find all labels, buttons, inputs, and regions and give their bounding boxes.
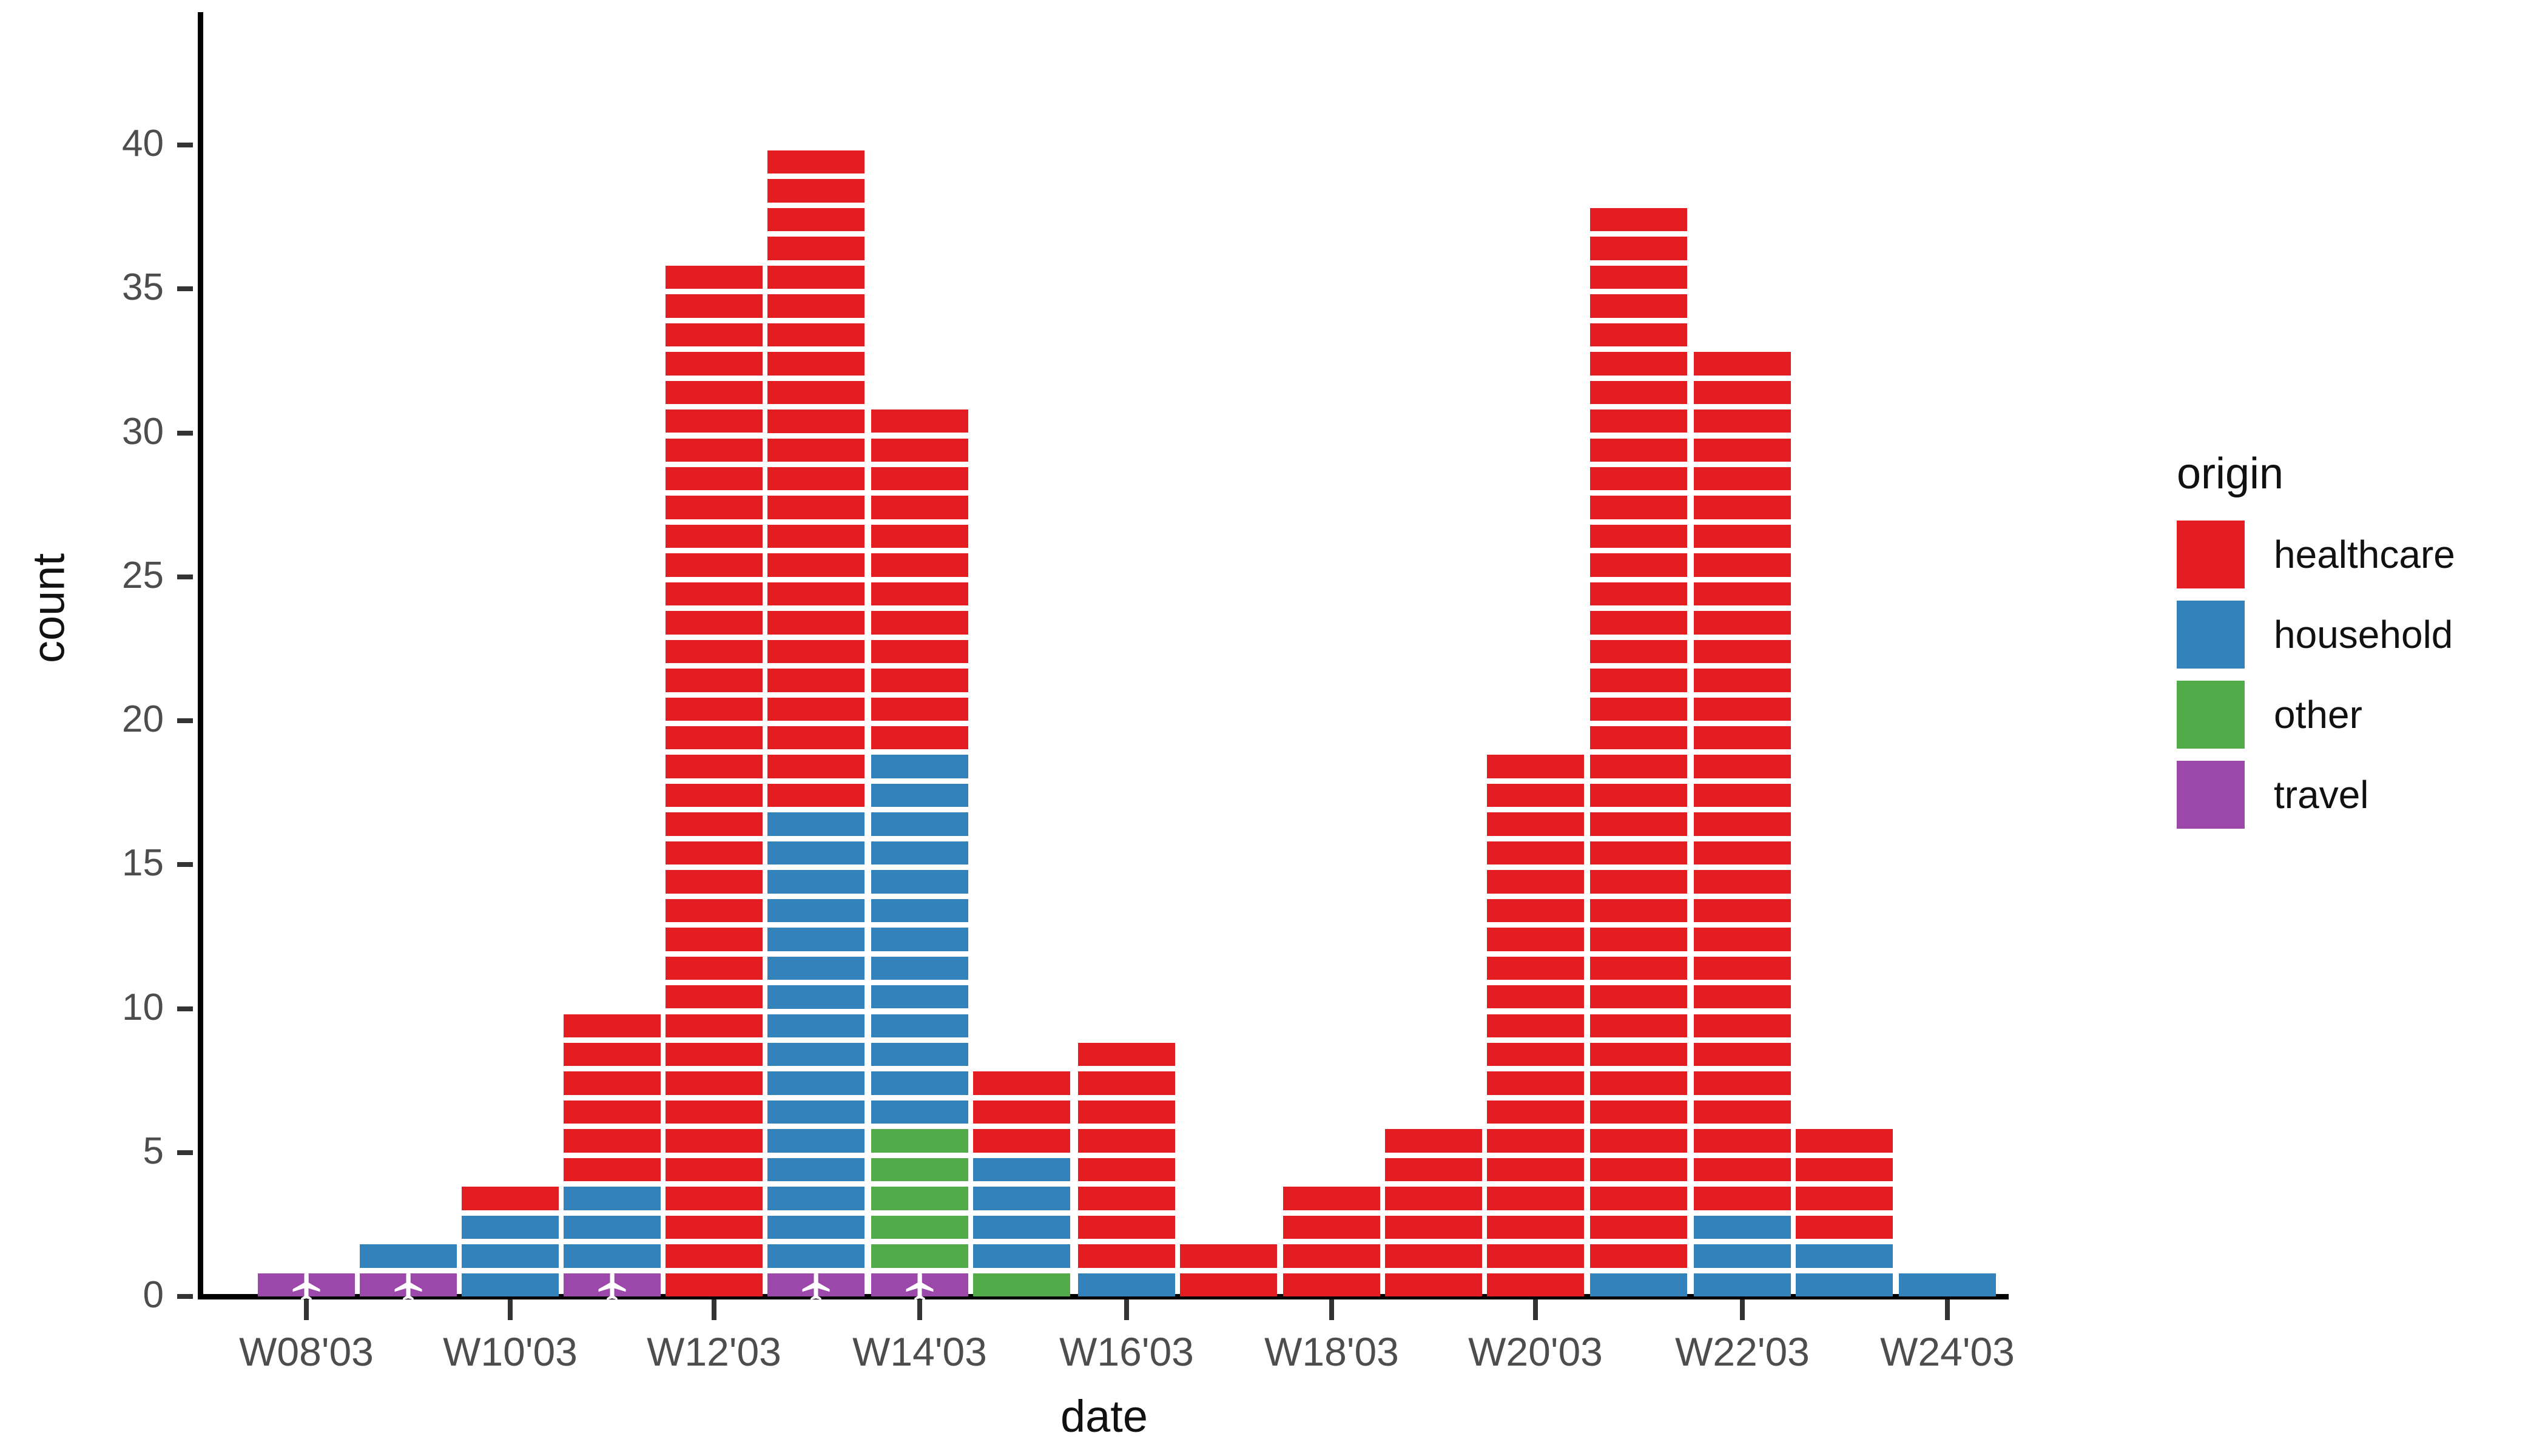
bar-segment-healthcare [666, 1187, 763, 1210]
bar-segment-healthcare [564, 1071, 661, 1094]
bar-segment-healthcare [1590, 294, 1687, 317]
bar-segment-other [871, 1158, 968, 1181]
y-tick-mark [177, 431, 193, 436]
bar-segment-healthcare [767, 467, 864, 490]
bar-stack [1590, 203, 1687, 1296]
bar-segment-household [1694, 1216, 1791, 1239]
bar-segment-household [767, 1043, 864, 1066]
x-tick-label: W10'03 [443, 1329, 578, 1375]
bar-segment-healthcare [462, 1187, 559, 1210]
bar-segment-healthcare [666, 841, 763, 864]
bar-segment-healthcare [1590, 553, 1687, 576]
bar-segment-healthcare [1590, 208, 1687, 231]
bar-segment-healthcare [1487, 957, 1584, 980]
bar-segment-household [871, 928, 968, 951]
bar-segment-healthcare [1694, 985, 1791, 1008]
bar-segment-healthcare [1590, 525, 1687, 548]
bar-segment-household [973, 1216, 1070, 1239]
bar-segment-healthcare [871, 439, 968, 462]
bar-stack [1180, 1239, 1277, 1296]
bar-segment-healthcare [666, 755, 763, 778]
bar-segment-healthcare [1694, 496, 1791, 519]
bar-segment-healthcare [767, 755, 864, 778]
bar-segment-other [871, 1244, 968, 1267]
bar-segment-healthcare [1590, 640, 1687, 663]
bar-segment-healthcare [1487, 784, 1584, 807]
bar-segment-healthcare [1694, 381, 1791, 404]
bar-segment-healthcare [666, 525, 763, 548]
bar-segment-healthcare [1694, 352, 1791, 375]
bar-segment-healthcare [1694, 439, 1791, 462]
bar-segment-other [871, 1129, 968, 1152]
bar-segment-household [1796, 1244, 1893, 1267]
bar-segment-household [767, 1187, 864, 1210]
bar-segment-travel [871, 1273, 968, 1296]
bar-segment-healthcare [767, 150, 864, 174]
bar-segment-healthcare [1590, 870, 1687, 893]
bar-segment-healthcare [564, 1129, 661, 1152]
bar-segment-healthcare [1694, 928, 1791, 951]
bar-segment-healthcare [1487, 1014, 1584, 1037]
bar-segment-healthcare [1590, 237, 1687, 260]
x-tick-label: W14'03 [852, 1329, 987, 1375]
bar-stack [666, 260, 763, 1296]
bar-segment-healthcare [666, 1071, 763, 1094]
bar-stack [360, 1239, 457, 1296]
bar-segment-healthcare [871, 611, 968, 634]
bar-segment-household [1694, 1273, 1791, 1296]
bar-segment-healthcare [564, 1014, 661, 1037]
legend-swatch-household [2177, 601, 2245, 669]
bar-segment-healthcare [1590, 726, 1687, 749]
legend-swatch-other [2177, 681, 2245, 749]
bar-segment-household [1078, 1273, 1175, 1296]
bar-segment-healthcare [1694, 784, 1791, 807]
x-tick-label: W22'03 [1675, 1329, 1810, 1375]
bar-segment-healthcare [767, 439, 864, 462]
bar-segment-healthcare [666, 1100, 763, 1124]
bar-segment-healthcare [666, 266, 763, 289]
bar-segment-healthcare [1694, 870, 1791, 893]
bar-segment-healthcare [1694, 409, 1791, 433]
bar-segment-healthcare [1385, 1187, 1482, 1210]
bar-segment-healthcare [767, 611, 864, 634]
bar-segment-healthcare [767, 179, 864, 202]
bar-segment-healthcare [767, 294, 864, 317]
bar-segment-healthcare [1590, 1244, 1687, 1267]
bar-segment-healthcare [871, 726, 968, 749]
bar-stack [1899, 1268, 1996, 1296]
bar-segment-healthcare [1590, 611, 1687, 634]
bar-segment-household [871, 1071, 968, 1094]
bar-segment-healthcare [1180, 1273, 1277, 1296]
bar-segment-healthcare [1796, 1187, 1893, 1210]
bar-segment-healthcare [666, 1273, 763, 1296]
bar-segment-healthcare [1487, 1043, 1584, 1066]
legend-items: healthcarehouseholdothertravel [2160, 514, 2455, 835]
bar-segment-household [767, 1216, 864, 1239]
bar-segment-healthcare [871, 525, 968, 548]
bar-segment-other [871, 1187, 968, 1210]
bar-segment-healthcare [666, 784, 763, 807]
bar-segment-household [871, 1100, 968, 1124]
bar-segment-household [871, 899, 968, 922]
bar-segment-household [767, 1014, 864, 1037]
bar-segment-healthcare [1694, 841, 1791, 864]
bar-stack [564, 1009, 661, 1297]
x-tick-label: W16'03 [1059, 1329, 1194, 1375]
bar-segment-healthcare [871, 582, 968, 605]
bar-segment-household [767, 812, 864, 835]
bar-segment-healthcare [1590, 985, 1687, 1008]
bar-segment-healthcare [767, 669, 864, 692]
bar-segment-healthcare [666, 669, 763, 692]
bar-segment-healthcare [1694, 726, 1791, 749]
bar-segment-healthcare [1590, 1158, 1687, 1181]
bar-segment-healthcare [1590, 1100, 1687, 1124]
bar-segment-other [973, 1273, 1070, 1296]
bar-segment-healthcare [1694, 640, 1791, 663]
bar-segment-household [767, 841, 864, 864]
bar-segment-household [462, 1244, 559, 1267]
legend-swatch-healthcare [2177, 521, 2245, 588]
legend-label-travel: travel [2274, 772, 2369, 817]
bar-segment-healthcare [1590, 784, 1687, 807]
bar-segment-healthcare [1385, 1273, 1482, 1296]
bar-segment-healthcare [1385, 1129, 1482, 1152]
bar-segment-healthcare [666, 409, 763, 433]
bar-segment-healthcare [1590, 323, 1687, 346]
y-tick-label: 10 [49, 986, 164, 1029]
bar-segment-healthcare [1590, 496, 1687, 519]
bar-segment-healthcare [1487, 841, 1584, 864]
bar-segment-healthcare [666, 812, 763, 835]
bar-segment-healthcare [1796, 1216, 1893, 1239]
bar-segment-household [973, 1158, 1070, 1181]
bar-segment-healthcare [1078, 1100, 1175, 1124]
bar-segment-healthcare [1694, 899, 1791, 922]
bar-segment-healthcare [871, 669, 968, 692]
y-tick-label: 25 [49, 554, 164, 597]
bar-segment-healthcare [1385, 1158, 1482, 1181]
bar-segment-healthcare [1590, 957, 1687, 980]
bar-segment-healthcare [1590, 381, 1687, 404]
y-tick-mark [177, 1006, 193, 1011]
airplane-icon [902, 1267, 938, 1303]
bar-segment-household [871, 985, 968, 1008]
bar-segment-household [767, 1071, 864, 1094]
x-tick-mark [508, 1299, 513, 1320]
bar-segment-healthcare [666, 1043, 763, 1066]
bar-segment-healthcare [1487, 755, 1584, 778]
bar-stack [462, 1181, 559, 1296]
bar-segment-healthcare [666, 553, 763, 576]
bar-segment-healthcare [1694, 1100, 1791, 1124]
bar-segment-travel [258, 1273, 355, 1296]
bar-segment-healthcare [666, 496, 763, 519]
bar-segment-healthcare [1487, 870, 1584, 893]
bar-segment-healthcare [1590, 439, 1687, 462]
bar-segment-household [871, 1014, 968, 1037]
bar-segment-healthcare [666, 1014, 763, 1037]
bar-segment-healthcare [564, 1043, 661, 1066]
y-tick-mark [177, 862, 193, 867]
bar-segment-household [462, 1216, 559, 1239]
bar-segment-household [871, 841, 968, 864]
bar-segment-healthcare [666, 1244, 763, 1267]
bar-segment-healthcare [1694, 1043, 1791, 1066]
x-tick-label: W12'03 [647, 1329, 781, 1375]
bar-segment-healthcare [666, 381, 763, 404]
bar-segment-healthcare [973, 1129, 1070, 1152]
bar-stack [1385, 1124, 1482, 1296]
bar-segment-household [767, 1100, 864, 1124]
bar-segment-healthcare [1078, 1216, 1175, 1239]
legend: origin healthcarehouseholdothertravel [2160, 449, 2455, 835]
chart-root: 0510152025303540 W08'03W10'03W12'03W14'0… [0, 0, 2548, 1456]
bar-segment-household [767, 899, 864, 922]
bar-segment-household [767, 957, 864, 980]
bar-segment-healthcare [1487, 812, 1584, 835]
x-tick-mark [1533, 1299, 1538, 1320]
x-tick-mark [1329, 1299, 1334, 1320]
bar-stack [258, 1268, 355, 1296]
bar-segment-healthcare [1078, 1071, 1175, 1094]
bar-segment-healthcare [1694, 812, 1791, 835]
bar-segment-travel [564, 1273, 661, 1296]
bar-segment-healthcare [1487, 1158, 1584, 1181]
bar-segment-household [360, 1244, 457, 1267]
bar-segment-healthcare [1590, 1129, 1687, 1152]
bar-segment-healthcare [767, 409, 864, 433]
bar-segment-healthcare [871, 409, 968, 433]
bar-segment-healthcare [1283, 1216, 1380, 1239]
bar-segment-healthcare [666, 439, 763, 462]
legend-title: origin [2177, 449, 2455, 499]
bar-stack [1078, 1037, 1175, 1296]
bar-segment-healthcare [1180, 1244, 1277, 1267]
bar-segment-healthcare [666, 1158, 763, 1181]
bar-segment-healthcare [1694, 1187, 1791, 1210]
bar-segment-healthcare [1590, 899, 1687, 922]
bar-segment-healthcare [767, 323, 864, 346]
bar-segment-healthcare [564, 1100, 661, 1124]
bar-segment-household [871, 755, 968, 778]
bar-segment-healthcare [1694, 611, 1791, 634]
bar-segment-healthcare [767, 698, 864, 721]
airplane-icon [594, 1267, 630, 1303]
legend-item-travel[interactable]: travel [2160, 755, 2455, 835]
bar-segment-healthcare [767, 496, 864, 519]
plot-area [200, 12, 2002, 1296]
x-tick-label: W20'03 [1468, 1329, 1603, 1375]
bar-segment-household [462, 1273, 559, 1296]
x-tick-label: W24'03 [1880, 1329, 2015, 1375]
bar-segment-healthcare [1590, 669, 1687, 692]
y-tick-label: 35 [49, 266, 164, 309]
y-tick-label: 40 [49, 122, 164, 165]
bar-segment-household [564, 1187, 661, 1210]
y-tick-mark [177, 1294, 193, 1299]
bar-segment-healthcare [1694, 755, 1791, 778]
bar-segment-healthcare [1694, 1071, 1791, 1094]
bar-segment-healthcare [1694, 957, 1791, 980]
y-axis-label: count [23, 487, 75, 730]
bar-segment-healthcare [767, 582, 864, 605]
bar-segment-healthcare [1590, 467, 1687, 490]
bar-segment-healthcare [1694, 553, 1791, 576]
bar-segment-household [1796, 1273, 1893, 1296]
bar-segment-healthcare [1590, 755, 1687, 778]
bar-segment-household [973, 1187, 1070, 1210]
bar-segment-healthcare [1078, 1043, 1175, 1066]
x-axis-label: date [1060, 1390, 1148, 1442]
bar-segment-healthcare [1078, 1158, 1175, 1181]
y-tick-label: 5 [49, 1130, 164, 1173]
bar-segment-healthcare [871, 496, 968, 519]
bar-segment-healthcare [1487, 1129, 1584, 1152]
y-tick-label: 15 [49, 841, 164, 885]
bar-segment-household [767, 870, 864, 893]
bar-segment-healthcare [1590, 1187, 1687, 1210]
bar-segment-household [973, 1244, 1070, 1267]
x-tick-mark [1740, 1299, 1745, 1320]
bar-segment-healthcare [1283, 1187, 1380, 1210]
bar-segment-healthcare [1487, 1244, 1584, 1267]
bar-segment-healthcare [1283, 1273, 1380, 1296]
bar-segment-household [871, 957, 968, 980]
bar-stack [1283, 1181, 1380, 1296]
x-tick-mark [1124, 1299, 1129, 1320]
y-tick-mark [177, 718, 193, 723]
bar-segment-household [564, 1244, 661, 1267]
legend-item-other[interactable]: other [2160, 675, 2455, 755]
bar-segment-healthcare [1385, 1216, 1482, 1239]
legend-item-healthcare[interactable]: healthcare [2160, 514, 2455, 595]
bar-segment-healthcare [666, 323, 763, 346]
bar-segment-healthcare [1694, 1158, 1791, 1181]
bar-segment-household [767, 985, 864, 1008]
bar-segment-healthcare [1487, 1216, 1584, 1239]
bar-segment-household [1694, 1244, 1791, 1267]
bar-segment-healthcare [1694, 525, 1791, 548]
bar-stack [1487, 749, 1584, 1296]
airplane-icon [288, 1267, 325, 1303]
bar-stack [1796, 1124, 1893, 1296]
y-tick-mark [177, 1150, 193, 1155]
bar-segment-healthcare [666, 928, 763, 951]
airplane-icon [390, 1267, 426, 1303]
bar-segment-household [564, 1216, 661, 1239]
legend-label-healthcare: healthcare [2274, 532, 2455, 577]
bar-segment-healthcare [666, 582, 763, 605]
bar-stack [767, 145, 864, 1296]
bar-segment-healthcare [1078, 1244, 1175, 1267]
bar-segment-household [1899, 1273, 1996, 1296]
legend-label-other: other [2274, 692, 2362, 737]
bar-stack [1694, 346, 1791, 1296]
bar-segment-healthcare [871, 640, 968, 663]
bar-segment-healthcare [1487, 928, 1584, 951]
bar-segment-household [767, 1129, 864, 1152]
y-tick-mark [177, 143, 193, 147]
bar-segment-healthcare [1694, 582, 1791, 605]
bar-segment-healthcare [1694, 1129, 1791, 1152]
bar-segment-healthcare [1487, 899, 1584, 922]
bar-segment-healthcare [1487, 1100, 1584, 1124]
bar-segment-healthcare [767, 784, 864, 807]
bar-segment-healthcare [767, 553, 864, 576]
bar-segment-healthcare [1590, 1043, 1687, 1066]
y-tick-label: 20 [49, 698, 164, 741]
legend-swatch-travel [2177, 761, 2245, 829]
bar-segment-healthcare [666, 352, 763, 375]
bar-segment-healthcare [1590, 928, 1687, 951]
bar-segment-healthcare [1590, 352, 1687, 375]
bar-segment-healthcare [1590, 812, 1687, 835]
bar-segment-healthcare [1694, 698, 1791, 721]
bar-segment-healthcare [1796, 1129, 1893, 1152]
y-tick-label: 30 [49, 410, 164, 453]
bar-segment-healthcare [767, 381, 864, 404]
bar-segment-healthcare [1590, 698, 1687, 721]
bar-segment-household [871, 1043, 968, 1066]
y-tick-mark [177, 286, 193, 291]
bar-segment-household [871, 784, 968, 807]
bar-segment-healthcare [767, 237, 864, 260]
bar-segment-healthcare [767, 266, 864, 289]
bar-segment-healthcare [1694, 669, 1791, 692]
bar-stack [973, 1066, 1070, 1296]
bar-segment-household [767, 1158, 864, 1181]
bar-segment-healthcare [666, 698, 763, 721]
bar-segment-healthcare [1487, 1071, 1584, 1094]
airplane-icon [798, 1267, 834, 1303]
bar-segment-healthcare [1487, 1187, 1584, 1210]
bar-segment-healthcare [1694, 1014, 1791, 1037]
x-tick-label: W18'03 [1264, 1329, 1399, 1375]
bar-segment-travel [360, 1273, 457, 1296]
bar-segment-healthcare [564, 1158, 661, 1181]
bar-segment-healthcare [1487, 985, 1584, 1008]
bar-segment-healthcare [1283, 1244, 1380, 1267]
bar-segment-healthcare [973, 1100, 1070, 1124]
legend-item-household[interactable]: household [2160, 595, 2455, 675]
bar-segment-healthcare [666, 726, 763, 749]
bar-stack [871, 404, 968, 1296]
bar-segment-healthcare [1694, 467, 1791, 490]
bar-segment-healthcare [1385, 1244, 1482, 1267]
bar-segment-healthcare [666, 611, 763, 634]
bar-segment-healthcare [666, 1216, 763, 1239]
bar-segment-healthcare [666, 294, 763, 317]
bar-segment-healthcare [871, 553, 968, 576]
bar-segment-healthcare [767, 525, 864, 548]
bar-segment-healthcare [1487, 1273, 1584, 1296]
bar-segment-healthcare [1590, 266, 1687, 289]
bar-segment-healthcare [767, 352, 864, 375]
bar-segment-household [767, 1244, 864, 1267]
legend-label-household: household [2274, 612, 2453, 657]
y-tick-label: 0 [49, 1273, 164, 1316]
x-tick-mark [712, 1299, 716, 1320]
bar-segment-healthcare [666, 899, 763, 922]
bar-segment-healthcare [666, 640, 763, 663]
bar-segment-healthcare [767, 640, 864, 663]
bar-segment-household [871, 870, 968, 893]
bar-segment-healthcare [1590, 1216, 1687, 1239]
x-tick-label: W08'03 [239, 1329, 374, 1375]
